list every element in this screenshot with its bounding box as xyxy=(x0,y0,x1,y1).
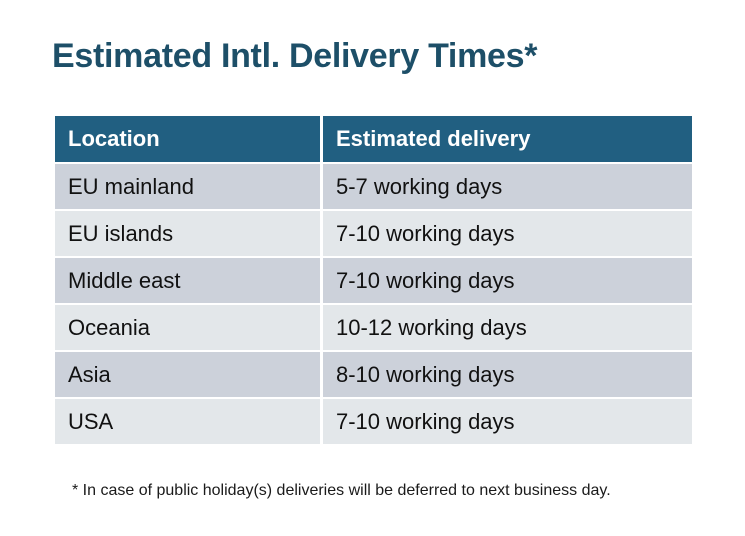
cell-estimated-delivery: 10-12 working days xyxy=(323,305,692,350)
footnote: * In case of public holiday(s) deliverie… xyxy=(72,480,611,502)
cell-estimated-delivery: 8-10 working days xyxy=(323,352,692,397)
cell-estimated-delivery: 7-10 working days xyxy=(323,258,692,303)
cell-location: Middle east xyxy=(55,258,320,303)
cell-estimated-delivery: 7-10 working days xyxy=(323,211,692,256)
column-header-estimated-delivery: Estimated delivery xyxy=(323,116,692,162)
cell-location: Asia xyxy=(55,352,320,397)
cell-location: USA xyxy=(55,399,320,444)
table-header: Location Estimated delivery xyxy=(55,116,692,162)
column-header-location: Location xyxy=(55,116,320,162)
table-row: Oceania 10-12 working days xyxy=(55,305,692,350)
cell-location: Oceania xyxy=(55,305,320,350)
table-row: EU islands 7-10 working days xyxy=(55,211,692,256)
page-title: Estimated Intl. Delivery Times* xyxy=(52,34,537,78)
table-row: EU mainland 5-7 working days xyxy=(55,164,692,209)
table-row: USA 7-10 working days xyxy=(55,399,692,444)
cell-estimated-delivery: 7-10 working days xyxy=(323,399,692,444)
estimated-delivery-table: Location Estimated delivery EU mainland … xyxy=(52,114,695,446)
table-body: EU mainland 5-7 working days EU islands … xyxy=(55,164,692,444)
table-row: Middle east 7-10 working days xyxy=(55,258,692,303)
cell-estimated-delivery: 5-7 working days xyxy=(323,164,692,209)
table-row: Asia 8-10 working days xyxy=(55,352,692,397)
delivery-times-page: Estimated Intl. Delivery Times* Location… xyxy=(0,0,745,536)
table-header-row: Location Estimated delivery xyxy=(55,116,692,162)
cell-location: EU islands xyxy=(55,211,320,256)
cell-location: EU mainland xyxy=(55,164,320,209)
